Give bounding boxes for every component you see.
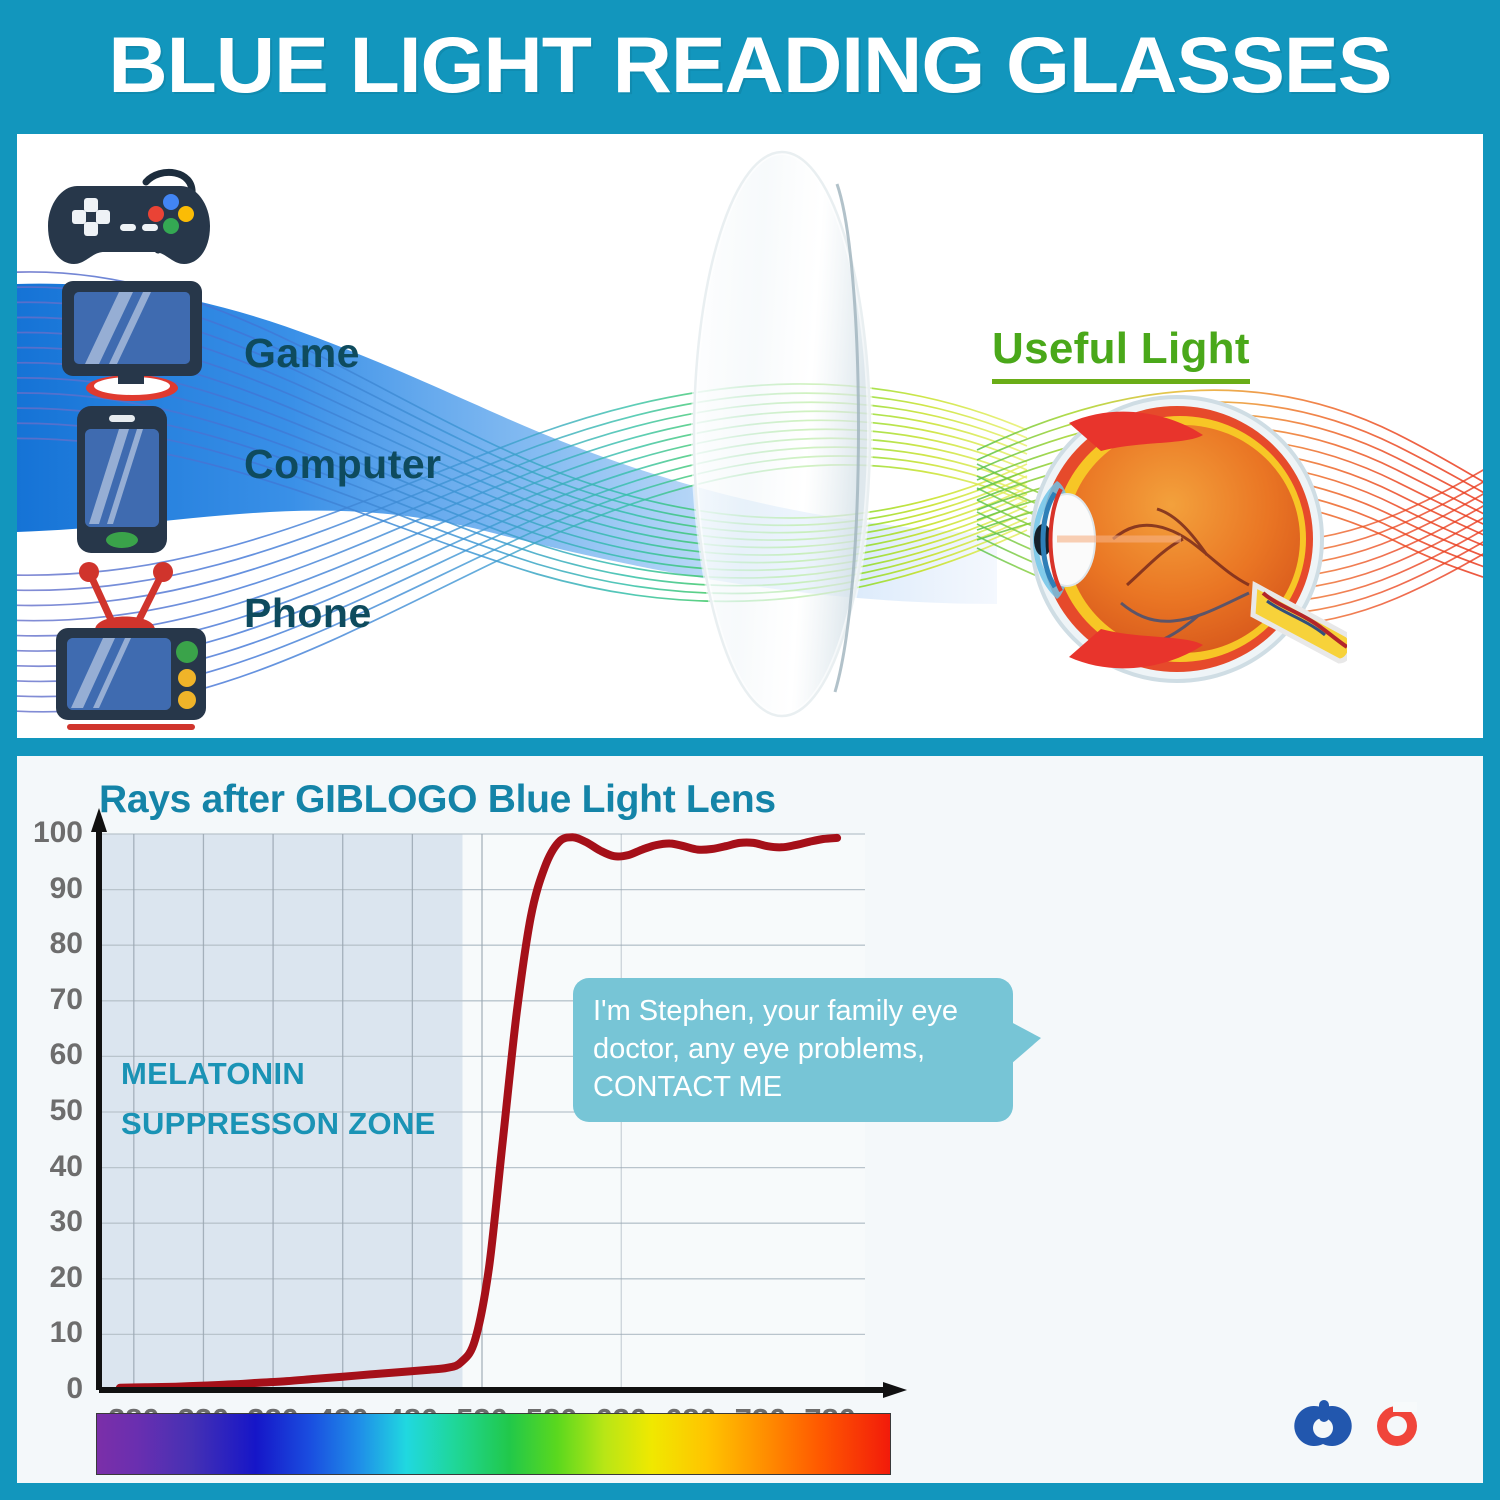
phone-icon [73, 402, 171, 557]
gamepad-icon [42, 164, 232, 274]
tv-icon [51, 552, 211, 730]
useful-light-underline [992, 379, 1250, 384]
page-title: BLUE LIGHT READING GLASSES [108, 19, 1391, 111]
y-tick-30: 30 [17, 1205, 83, 1239]
header-banner: BLUE LIGHT READING GLASSES [0, 0, 1500, 130]
product-infographic: BLUE LIGHT READING GLASSES [0, 0, 1500, 1500]
melatonin-zone-label-line1: MELATONIN [121, 1056, 305, 1092]
monitor-icon [57, 276, 207, 406]
useful-light-text: Useful Light [992, 324, 1250, 373]
y-tick-100: 100 [17, 816, 83, 850]
device-label-computer: Computer [244, 441, 442, 488]
lens-ellipse [687, 144, 877, 724]
y-tick-90: 90 [17, 872, 83, 906]
speech-bubble-tail [1011, 1022, 1041, 1064]
y-tick-20: 20 [17, 1261, 83, 1295]
y-tick-40: 40 [17, 1150, 83, 1184]
y-tick-60: 60 [17, 1038, 83, 1072]
useful-light-label: Useful Light [992, 324, 1250, 384]
y-tick-80: 80 [17, 927, 83, 961]
bubble-line-1: I'm Stephen, your family eye [593, 992, 993, 1030]
y-tick-0: 0 [17, 1372, 83, 1406]
eye-anatomy-icon [1017, 389, 1347, 689]
top-illustration-panel: Game Computer Phone [17, 134, 1483, 738]
speech-bubble: I'm Stephen, your family eye doctor, any… [573, 978, 1013, 1122]
visible-spectrum-bar [96, 1413, 891, 1475]
y-tick-70: 70 [17, 983, 83, 1017]
bubble-line-3: CONTACT ME [593, 1068, 993, 1106]
melatonin-zone-label-line2: SUPPRESSON ZONE [121, 1106, 436, 1142]
y-tick-10: 10 [17, 1316, 83, 1350]
brand-logo-icon [1285, 1390, 1435, 1462]
bubble-line-2: doctor, any eye problems, [593, 1030, 993, 1068]
device-label-game: Game [244, 330, 360, 377]
y-tick-50: 50 [17, 1094, 83, 1128]
device-label-phone: Phone [244, 590, 372, 637]
